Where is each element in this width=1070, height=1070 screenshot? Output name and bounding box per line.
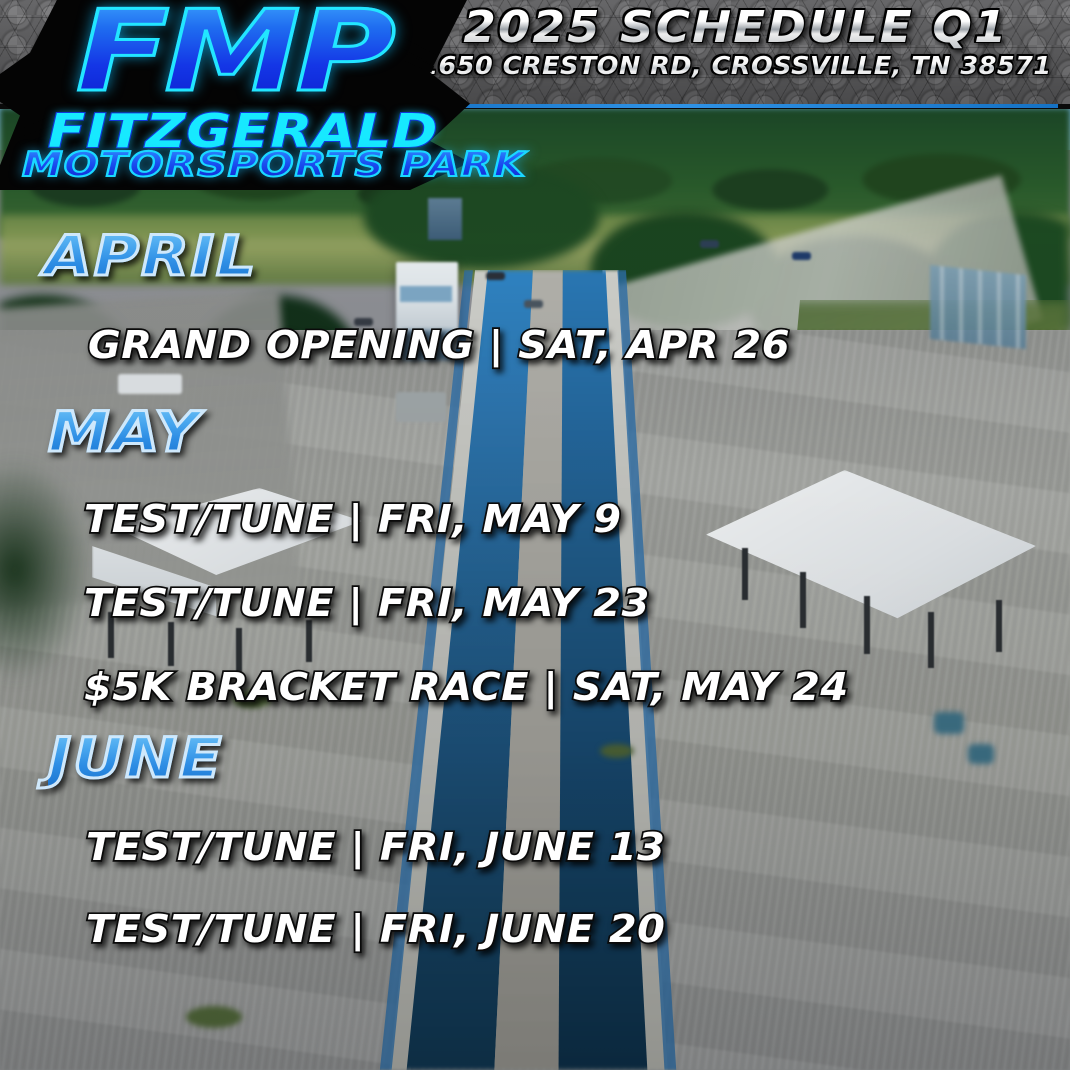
logo-name-line2: MOTORSPORTS PARK xyxy=(22,148,526,182)
venue-address: 1650 CRESTON RD, CROSSVILLE, TN 38571 xyxy=(410,53,1063,79)
event-april-1: GRAND OPENING | SAT, APR 26 xyxy=(88,326,790,366)
month-heading-may: MAY xyxy=(48,404,201,462)
event-may-3: $5K BRACKET RACE | SAT, MAY 24 xyxy=(84,668,849,708)
event-may-1: TEST/TUNE | FRI, MAY 9 xyxy=(84,500,622,540)
event-june-1: TEST/TUNE | FRI, JUNE 13 xyxy=(86,828,665,868)
event-may-2: TEST/TUNE | FRI, MAY 23 xyxy=(84,584,650,624)
month-heading-june: JUNE xyxy=(48,730,224,788)
logo: FMP FITZGERALD MOTORSPORTS PARK xyxy=(0,0,500,196)
month-heading-april: APRIL xyxy=(44,228,258,286)
header: 2025 SCHEDULE Q1 1650 CRESTON RD, CROSSV… xyxy=(416,6,1056,79)
photo-top-border xyxy=(412,104,1058,108)
schedule-poster: 2025 SCHEDULE Q1 1650 CRESTON RD, CROSSV… xyxy=(0,0,1070,1070)
logo-initials: FMP xyxy=(76,0,391,108)
event-june-2: TEST/TUNE | FRI, JUNE 20 xyxy=(86,910,665,950)
